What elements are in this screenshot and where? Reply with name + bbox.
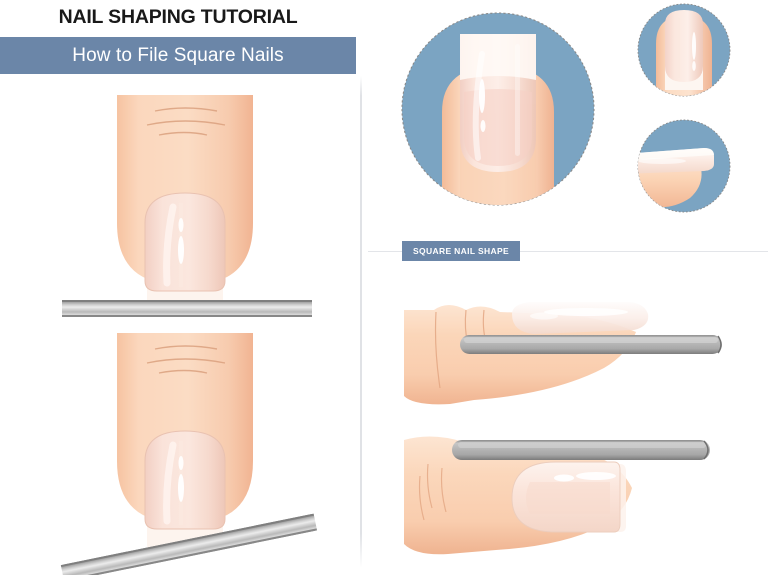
illustration-front-square-nail-small	[634, 2, 734, 102]
section-badge: SQUARE NAIL SHAPE	[402, 241, 520, 261]
illustration-side-view-filing	[404, 288, 768, 418]
illustration-front-view-file-flat	[55, 95, 325, 335]
subtitle-text: How to File Square Nails	[72, 45, 283, 67]
nail-file	[460, 335, 722, 354]
nail-file	[452, 440, 710, 460]
illustration-front-view-file-tilted	[55, 330, 325, 575]
section-label-row: SQUARE NAIL SHAPE	[368, 240, 768, 262]
vertical-divider	[360, 76, 362, 568]
nail-file-flat	[62, 300, 312, 317]
rule-left	[368, 251, 402, 252]
page-title: NAIL SHAPING TUTORIAL	[0, 6, 356, 29]
illustration-closeup-square-nail	[398, 8, 598, 210]
subtitle-banner: How to File Square Nails	[0, 37, 356, 74]
rule-right	[520, 251, 768, 252]
nail-gloss	[638, 158, 686, 164]
nail-plate	[512, 302, 648, 334]
nail-tip-highlight	[460, 34, 536, 80]
nail-plate	[665, 10, 703, 82]
nail-bed	[526, 482, 610, 514]
nail-plate	[145, 431, 225, 529]
illustration-profile-square-nail-small	[634, 116, 734, 216]
tutorial-infographic: NAIL SHAPING TUTORIAL How to File Square…	[0, 0, 768, 579]
illustration-top-view-filing	[404, 420, 768, 570]
nail-plate	[145, 193, 225, 291]
